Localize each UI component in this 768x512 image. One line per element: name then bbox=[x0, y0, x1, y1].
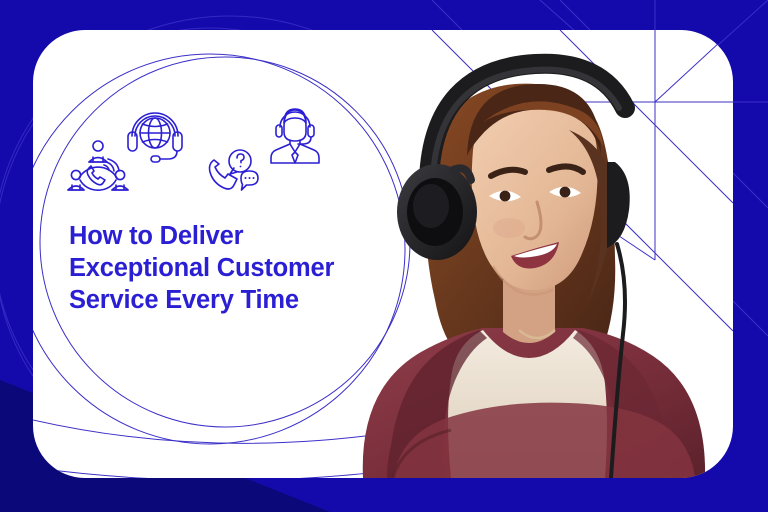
headset-cup-left-pad bbox=[413, 184, 449, 228]
icon-cluster bbox=[67, 102, 357, 212]
agent-illustration bbox=[333, 30, 733, 478]
support-agent-headset-icon bbox=[264, 104, 326, 166]
headset-cup-right bbox=[607, 162, 630, 248]
eye-left-pupil bbox=[500, 191, 511, 202]
cheek bbox=[493, 218, 525, 238]
eye-right-pupil bbox=[560, 187, 571, 198]
global-headset-support-icon bbox=[124, 102, 186, 164]
content-card: How to Deliver Exceptional Customer Serv… bbox=[33, 30, 733, 478]
blog-banner: How to Deliver Exceptional Customer Serv… bbox=[0, 0, 768, 512]
phone-question-chat-icon bbox=[207, 147, 261, 195]
customer-service-agent-photo bbox=[333, 30, 733, 478]
team-support-network-icon bbox=[67, 138, 129, 196]
